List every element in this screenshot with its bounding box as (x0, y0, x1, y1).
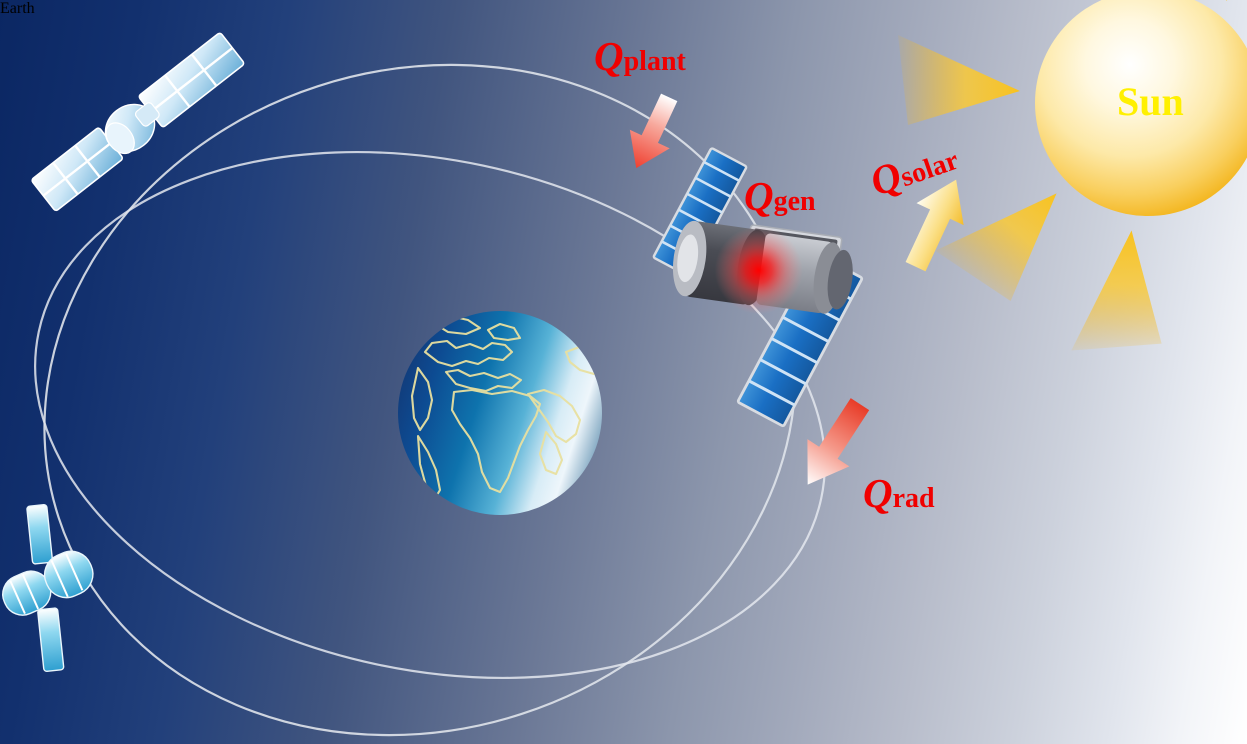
q-rad-subscript: rad (893, 483, 935, 514)
q-gen-subscript: gen (774, 186, 816, 217)
q-rad-symbol: Q (863, 470, 893, 516)
q-plant-subscript: plant (624, 46, 686, 77)
q-rad-label: Qrad (863, 473, 935, 514)
q-gen-symbol: Q (744, 173, 774, 219)
thermal-balance-diagram: Sun Earth (0, 0, 1247, 744)
q-gen-label: Qgen (744, 176, 816, 217)
q-plant-label: Qplant (594, 36, 686, 77)
q-plant-arrow (616, 88, 689, 177)
heat-flow-arrows (0, 0, 1247, 744)
q-plant-symbol: Q (594, 33, 624, 79)
